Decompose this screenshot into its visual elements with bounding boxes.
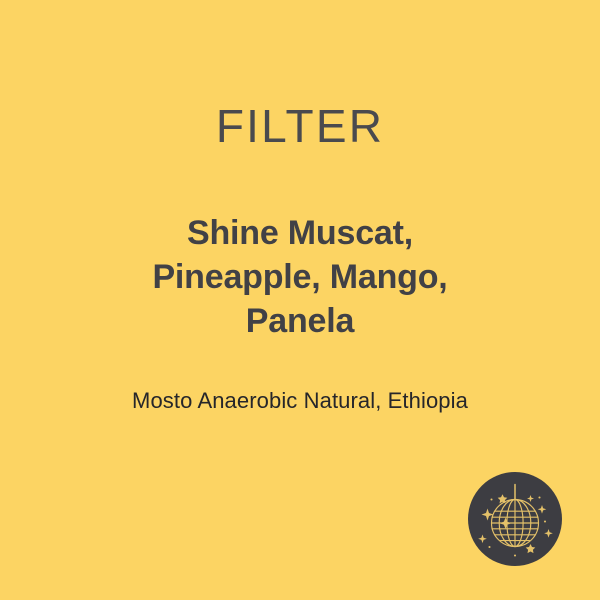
dot-icon xyxy=(544,520,546,522)
tasting-notes: Shine Muscat, Pineapple, Mango, Panela xyxy=(50,211,550,343)
dot-icon xyxy=(490,498,492,500)
tasting-notes-line: Shine Muscat, xyxy=(50,211,550,255)
dot-icon xyxy=(538,496,540,498)
origin-process-label: Mosto Anaerobic Natural, Ethiopia xyxy=(0,386,600,416)
dot-icon xyxy=(514,554,516,556)
product-card: FILTER Shine Muscat, Pineapple, Mango, P… xyxy=(0,0,600,600)
brand-badge xyxy=(468,472,562,566)
tasting-notes-line: Pineapple, Mango, xyxy=(50,255,550,299)
dot-icon xyxy=(488,546,490,548)
product-category-label: FILTER xyxy=(0,101,600,151)
tasting-notes-line: Panela xyxy=(50,299,550,343)
disco-ball-icon xyxy=(468,472,562,566)
